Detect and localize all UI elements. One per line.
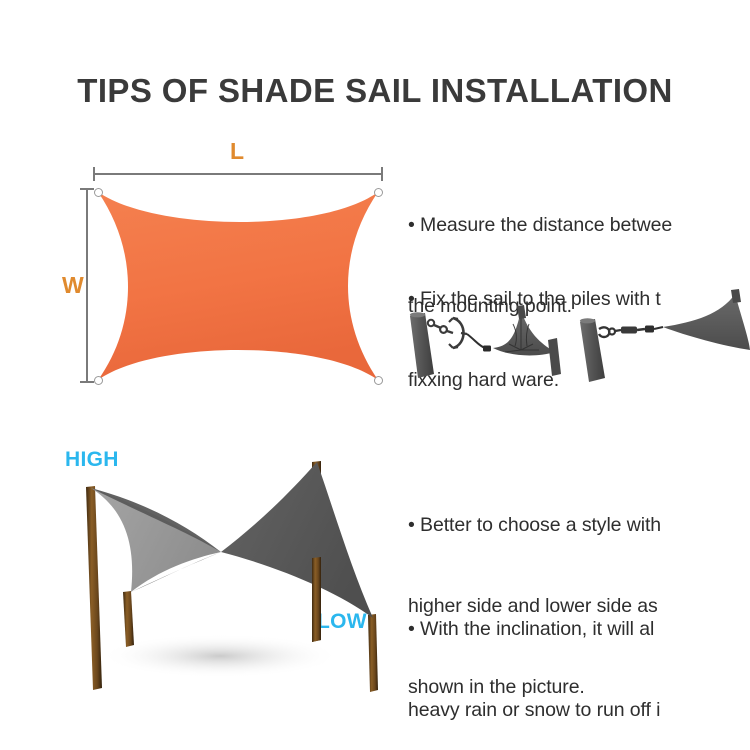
inclined-sail-diagram: HIGH LOW: [35, 440, 415, 695]
page-title: TIPS OF SHADE SAIL INSTALLATION: [0, 72, 750, 110]
pole-short-inner-left: [123, 591, 134, 647]
ground-shadow: [100, 634, 340, 678]
pole-low-right: [368, 614, 378, 692]
grommet-top-left: [94, 188, 103, 197]
pole-high-left: [86, 486, 102, 690]
grommet-top-right: [374, 188, 383, 197]
grommet-bottom-left: [94, 376, 103, 385]
pole-front-right-overlap: [312, 557, 321, 642]
sail-fabric-shape: [60, 140, 410, 405]
fixing-hardware-illustration: [405, 288, 750, 388]
hardware-left-assembly: [410, 305, 561, 378]
hardware-right-assembly: [580, 289, 750, 382]
infographic-page: TIPS OF SHADE SAIL INSTALLATION L W: [0, 0, 750, 750]
tip-inclination-runoff: • With the inclination, it will al heavy…: [408, 562, 660, 750]
grommet-bottom-right: [374, 376, 383, 385]
rectangular-sail-diagram: L W: [60, 140, 410, 405]
sail-dark-gray-right: [221, 462, 373, 618]
tip-choose-style-line-1: • Better to choose a style with: [408, 512, 661, 539]
tip-inclination-line-1: • With the inclination, it will al: [408, 616, 660, 643]
tip-inclination-line-2: heavy rain or snow to run off i: [408, 697, 660, 724]
